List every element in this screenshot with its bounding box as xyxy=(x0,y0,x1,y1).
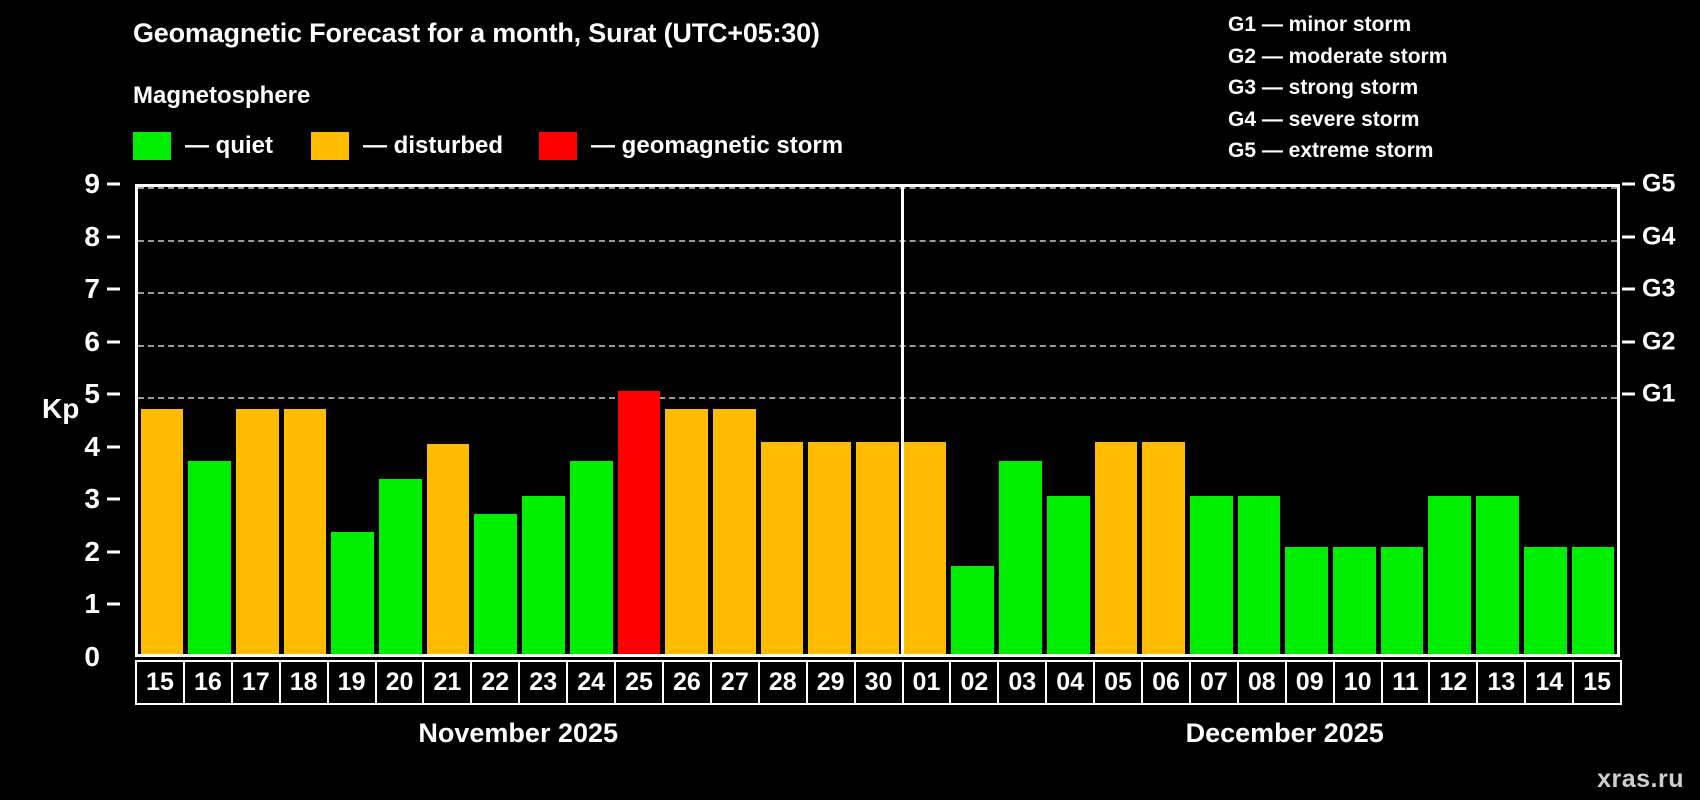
bar-cell[interactable] xyxy=(567,187,615,654)
day-label: 10 xyxy=(1344,670,1372,695)
legend-label-storm: — geomagnetic storm xyxy=(591,132,843,160)
day-label: 05 xyxy=(1104,670,1132,695)
day-label-cell: 16 xyxy=(183,660,233,705)
legend-label-quiet: — quiet xyxy=(185,132,273,160)
day-label: 15 xyxy=(1583,670,1611,695)
day-label-cell: 22 xyxy=(470,660,520,705)
bar-cell[interactable] xyxy=(1521,187,1569,654)
day-label: 24 xyxy=(577,670,605,695)
bar-cell[interactable] xyxy=(472,187,520,654)
bar-november-16[interactable] xyxy=(188,461,231,654)
day-label: 26 xyxy=(673,670,701,695)
day-label-cell: 11 xyxy=(1381,660,1431,705)
y-tick-mark-3 xyxy=(107,498,120,501)
bar-cell[interactable] xyxy=(949,187,997,654)
bar-december-04[interactable] xyxy=(1047,496,1090,654)
day-label: 13 xyxy=(1487,670,1515,695)
legend-swatch-quiet xyxy=(133,132,171,160)
bar-cell[interactable] xyxy=(1044,187,1092,654)
g-tick-mark-G4 xyxy=(1622,235,1635,238)
day-label-cell: 10 xyxy=(1333,660,1383,705)
y-tick-label-7: 7 xyxy=(84,273,100,305)
bar-november-25[interactable] xyxy=(618,391,661,654)
bar-november-29[interactable] xyxy=(808,442,851,654)
g-scale-line-1: G1 — minor storm xyxy=(1228,9,1447,41)
y-tick-label-2: 2 xyxy=(84,536,100,568)
bar-december-06[interactable] xyxy=(1142,442,1185,654)
day-label: 14 xyxy=(1535,670,1563,695)
bar-december-01[interactable] xyxy=(904,442,947,654)
bar-cell[interactable] xyxy=(758,187,806,654)
day-label: 21 xyxy=(433,670,461,695)
bar-cell[interactable] xyxy=(1092,187,1140,654)
day-axis: 1516171819202122232425262728293001020304… xyxy=(135,660,1620,705)
g-scale-legend: G1 — minor stormG2 — moderate stormG3 — … xyxy=(1228,9,1447,167)
bar-cell[interactable] xyxy=(710,187,758,654)
day-label: 28 xyxy=(769,670,797,695)
bar-december-08[interactable] xyxy=(1238,496,1281,654)
day-label: 17 xyxy=(242,670,270,695)
day-label: 09 xyxy=(1296,670,1324,695)
day-label: 02 xyxy=(960,670,988,695)
day-label: 11 xyxy=(1392,670,1418,695)
month-axis: November 2025December 2025 xyxy=(135,718,1620,762)
g-tick-label-G1: G1 xyxy=(1642,380,1675,409)
bar-cell[interactable] xyxy=(233,187,281,654)
bar-cell[interactable] xyxy=(806,187,854,654)
bar-cell[interactable] xyxy=(520,187,568,654)
chart-plot-area xyxy=(135,184,1620,657)
day-label: 06 xyxy=(1152,670,1180,695)
g-tick-mark-G1 xyxy=(1622,393,1635,396)
bar-cell[interactable] xyxy=(1187,187,1235,654)
day-label: 07 xyxy=(1200,670,1228,695)
day-label-cell: 20 xyxy=(375,660,425,705)
g-tick-label-G3: G3 xyxy=(1642,275,1675,304)
day-label: 16 xyxy=(194,670,222,695)
bar-cell[interactable] xyxy=(377,187,425,654)
day-label-cell: 25 xyxy=(614,660,664,705)
g-tick-label-G4: G4 xyxy=(1642,222,1675,251)
y-tick-mark-7 xyxy=(107,288,120,291)
bar-november-26[interactable] xyxy=(665,409,708,654)
bar-november-22[interactable] xyxy=(474,514,517,654)
day-label-cell: 04 xyxy=(1045,660,1095,705)
bar-november-21[interactable] xyxy=(427,444,470,654)
day-label-cell: 01 xyxy=(902,660,952,705)
g-scale-line-3: G3 — strong storm xyxy=(1228,72,1447,104)
day-label-cell: 24 xyxy=(566,660,616,705)
g-scale-line-5: G5 — extreme storm xyxy=(1228,135,1447,167)
bar-cell[interactable] xyxy=(1140,187,1188,654)
day-label-cell: 03 xyxy=(997,660,1047,705)
g-tick-mark-G3 xyxy=(1622,288,1635,291)
day-label: 15 xyxy=(146,670,174,695)
day-label-cell: 08 xyxy=(1237,660,1287,705)
g-tick-mark-G2 xyxy=(1622,340,1635,343)
y-tick-mark-4 xyxy=(107,445,120,448)
day-label: 25 xyxy=(625,670,653,695)
day-label-cell: 09 xyxy=(1285,660,1335,705)
y-tick-label-8: 8 xyxy=(84,221,100,253)
bar-december-11[interactable] xyxy=(1381,547,1424,654)
legend-item-quiet: — quiet xyxy=(133,132,273,160)
legend: — quiet— disturbed— geomagnetic storm xyxy=(133,132,843,160)
bar-december-02[interactable] xyxy=(951,566,994,654)
day-label-cell: 29 xyxy=(806,660,856,705)
day-label-cell: 06 xyxy=(1141,660,1191,705)
bar-cell[interactable] xyxy=(1569,187,1617,654)
month-label: December 2025 xyxy=(1186,718,1384,749)
bar-december-14[interactable] xyxy=(1524,547,1567,654)
day-label: 19 xyxy=(338,670,366,695)
day-label: 12 xyxy=(1440,670,1468,695)
day-label: 03 xyxy=(1008,670,1036,695)
g-scale-line-2: G2 — moderate storm xyxy=(1228,41,1447,73)
y-axis-title: Kp xyxy=(42,393,79,425)
bar-november-17[interactable] xyxy=(236,409,279,654)
bar-november-28[interactable] xyxy=(761,442,804,654)
bar-december-09[interactable] xyxy=(1285,547,1328,654)
bar-december-12[interactable] xyxy=(1428,496,1471,654)
bar-november-18[interactable] xyxy=(284,409,327,654)
bar-cell[interactable] xyxy=(663,187,711,654)
day-label-cell: 21 xyxy=(422,660,472,705)
day-label-cell: 19 xyxy=(327,660,377,705)
day-label-cell: 27 xyxy=(710,660,760,705)
bar-cell[interactable] xyxy=(1474,187,1522,654)
day-label-cell: 02 xyxy=(949,660,999,705)
bar-cell[interactable] xyxy=(1235,187,1283,654)
day-label-cell: 23 xyxy=(518,660,568,705)
bar-november-24[interactable] xyxy=(570,461,613,654)
day-label-cell: 05 xyxy=(1093,660,1143,705)
g-tick-label-G5: G5 xyxy=(1642,170,1675,199)
bar-december-10[interactable] xyxy=(1333,547,1376,654)
y-tick-mark-5 xyxy=(107,393,120,396)
y-tick-label-3: 3 xyxy=(84,483,100,515)
bar-november-30[interactable] xyxy=(856,442,899,654)
bar-cell[interactable] xyxy=(138,187,186,654)
day-label-cell: 30 xyxy=(854,660,904,705)
bar-december-03[interactable] xyxy=(999,461,1042,654)
day-label-cell: 14 xyxy=(1524,660,1574,705)
y-tick-mark-1 xyxy=(107,603,120,606)
month-divider xyxy=(901,187,904,654)
y-tick-label-9: 9 xyxy=(84,168,100,200)
y-tick-label-1: 1 xyxy=(84,588,100,620)
day-label: 22 xyxy=(481,670,509,695)
y-tick-label-4: 4 xyxy=(84,431,100,463)
bar-cell[interactable] xyxy=(997,187,1045,654)
bar-cell[interactable] xyxy=(901,187,949,654)
day-label: 04 xyxy=(1056,670,1084,695)
bar-cell[interactable] xyxy=(1283,187,1331,654)
legend-swatch-storm xyxy=(539,132,577,160)
bar-cell[interactable] xyxy=(1426,187,1474,654)
y-tick-mark-6 xyxy=(107,340,120,343)
bar-december-15[interactable] xyxy=(1572,547,1615,654)
y-tick-label-6: 6 xyxy=(84,326,100,358)
bar-december-13[interactable] xyxy=(1476,496,1519,654)
bar-cell[interactable] xyxy=(1331,187,1379,654)
bar-november-27[interactable] xyxy=(713,409,756,654)
y-tick-mark-2 xyxy=(107,550,120,553)
bar-cell[interactable] xyxy=(186,187,234,654)
day-label: 23 xyxy=(529,670,557,695)
bar-cell[interactable] xyxy=(1378,187,1426,654)
y-tick-mark-9 xyxy=(107,183,120,186)
magnetosphere-label: Magnetosphere xyxy=(133,82,310,110)
y-tick-label-0: 0 xyxy=(84,641,100,673)
legend-item-storm: — geomagnetic storm xyxy=(539,132,843,160)
bar-november-20[interactable] xyxy=(379,479,422,654)
day-label-cell: 17 xyxy=(231,660,281,705)
bar-december-07[interactable] xyxy=(1190,496,1233,654)
day-label-cell: 28 xyxy=(758,660,808,705)
bar-november-23[interactable] xyxy=(522,496,565,654)
g-axis-labels: G1G2G3G4G5 xyxy=(1620,184,1700,657)
day-label: 20 xyxy=(386,670,414,695)
day-label-cell: 26 xyxy=(662,660,712,705)
legend-item-disturbed: — disturbed xyxy=(311,132,503,160)
bar-cell[interactable] xyxy=(615,187,663,654)
page-title: Geomagnetic Forecast for a month, Surat … xyxy=(133,18,820,49)
day-label-cell: 13 xyxy=(1476,660,1526,705)
bar-series xyxy=(138,187,1617,654)
day-label: 08 xyxy=(1248,670,1276,695)
day-label-cell: 07 xyxy=(1189,660,1239,705)
day-label: 29 xyxy=(817,670,845,695)
day-label: 27 xyxy=(721,670,749,695)
day-label-cell: 15 xyxy=(135,660,185,705)
bar-cell[interactable] xyxy=(854,187,902,654)
day-label-cell: 12 xyxy=(1428,660,1478,705)
day-label-cell: 15 xyxy=(1572,660,1622,705)
y-tick-label-5: 5 xyxy=(84,378,100,410)
day-label-cell: 18 xyxy=(279,660,329,705)
day-label: 18 xyxy=(290,670,318,695)
day-label: 30 xyxy=(865,670,893,695)
g-tick-label-G2: G2 xyxy=(1642,327,1675,356)
bar-cell[interactable] xyxy=(329,187,377,654)
bar-cell[interactable] xyxy=(281,187,329,654)
month-label: November 2025 xyxy=(418,718,618,749)
bar-november-19[interactable] xyxy=(331,532,374,654)
day-label: 01 xyxy=(913,670,941,695)
watermark: xras.ru xyxy=(1597,765,1684,794)
legend-label-disturbed: — disturbed xyxy=(363,132,503,160)
bar-december-05[interactable] xyxy=(1095,442,1138,654)
legend-swatch-disturbed xyxy=(311,132,349,160)
bar-cell[interactable] xyxy=(424,187,472,654)
y-tick-mark-8 xyxy=(107,235,120,238)
g-tick-mark-G5 xyxy=(1622,183,1635,186)
bar-november-15[interactable] xyxy=(141,409,184,654)
g-scale-line-4: G4 — severe storm xyxy=(1228,104,1447,136)
